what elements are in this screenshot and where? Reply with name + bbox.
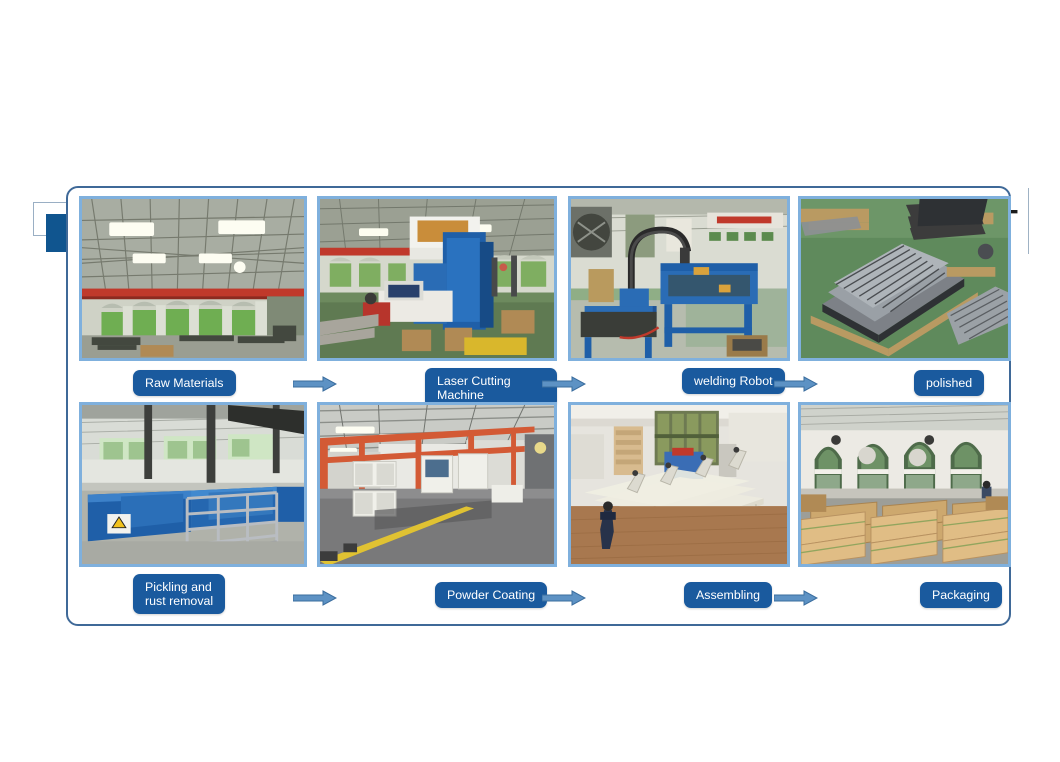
workflow-row-1: Raw Materials [68,196,1013,411]
workflow-step-powder-coating[interactable]: Powder Coating [317,402,557,617]
workflow-step-welding-robot[interactable]: welding Robot [568,196,790,411]
step-image-assembling [568,402,790,567]
brand-divider [1028,188,1029,254]
workflow-step-polished[interactable]: polished [798,196,1014,411]
workflow-step-packaging[interactable]: Packaging [798,402,1014,617]
step-label-assembling: Assembling [684,582,772,608]
step-label-welding-robot: welding Robot [682,368,785,394]
step-label-powder-coating: Powder Coating [435,582,547,608]
workflow-step-laser-cutting[interactable]: Laser Cutting Machine [317,196,557,411]
workflow-container: Raw Materials [66,186,1011,626]
step-image-raw-materials [79,196,307,361]
step-label-polished: polished [914,370,984,396]
slide-canvas: Production Workflow Chart TOPOST [0,0,1060,762]
step-image-polished [798,196,1011,361]
step-image-welding-robot [568,196,790,361]
step-image-packaging [798,402,1011,567]
step-image-pickling [79,402,307,567]
step-label-pickling: Pickling and rust removal [133,574,225,614]
step-label-raw-materials: Raw Materials [133,370,236,396]
workflow-step-pickling[interactable]: Pickling and rust removal [79,402,307,617]
workflow-step-raw-materials[interactable]: Raw Materials [79,196,307,411]
workflow-row-2: Pickling and rust removal [68,402,1013,617]
step-image-powder-coating [317,402,557,567]
step-image-laser-cutting [317,196,557,361]
step-label-packaging: Packaging [920,582,1002,608]
header: Production Workflow Chart TOPOST [0,92,1060,174]
workflow-step-assembling[interactable]: Assembling [568,402,790,617]
